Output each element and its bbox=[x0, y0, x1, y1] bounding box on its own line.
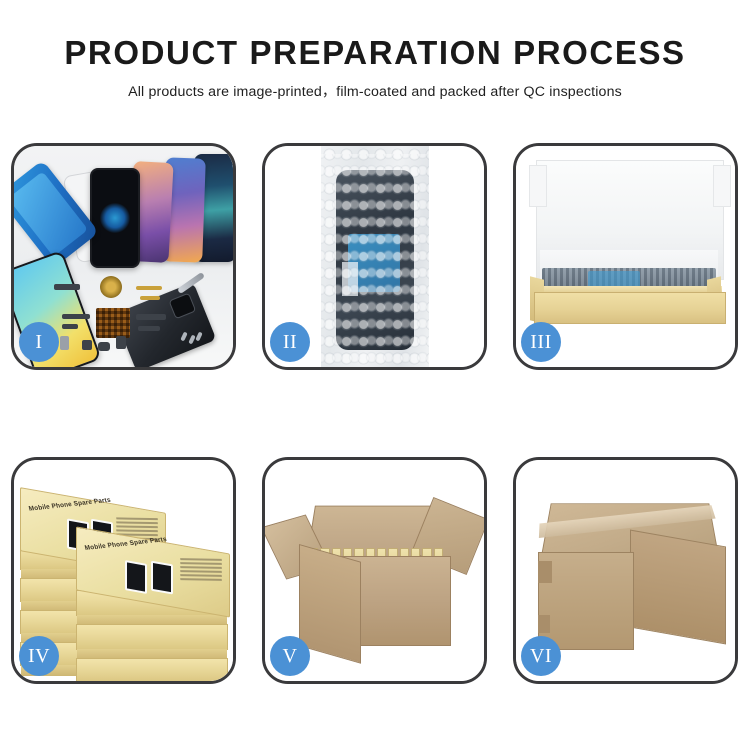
ribbon-part bbox=[136, 314, 166, 320]
box-phone-graphic bbox=[151, 561, 173, 595]
process-grid: I II bbox=[11, 143, 739, 684]
stacked-box bbox=[76, 658, 228, 681]
process-step-1[interactable]: I bbox=[11, 143, 236, 370]
step-badge-2: II bbox=[270, 322, 310, 362]
button-flex-part bbox=[62, 314, 90, 319]
page-subtitle: All products are image-printed，film-coat… bbox=[0, 81, 750, 101]
tweezers-tool bbox=[177, 272, 205, 294]
bracket-part bbox=[82, 340, 92, 350]
camera-part bbox=[60, 336, 69, 350]
spare-parts-cluster bbox=[54, 274, 204, 354]
box-phone-graphic bbox=[125, 560, 147, 594]
process-row-1: I II bbox=[11, 143, 739, 370]
carton-handle-nub bbox=[538, 615, 550, 633]
box-front-panel bbox=[534, 292, 726, 324]
page-header: PRODUCT PREPARATION PROCESS All products… bbox=[0, 36, 750, 101]
screws-group bbox=[182, 332, 204, 346]
process-step-3[interactable]: III bbox=[513, 143, 738, 370]
speaker-coil-part bbox=[100, 276, 122, 298]
step-badge-6: VI bbox=[521, 636, 561, 676]
carton-side bbox=[630, 530, 726, 645]
step-badge-4: IV bbox=[19, 636, 59, 676]
process-step-5[interactable]: V bbox=[262, 457, 487, 684]
vibrator-part bbox=[116, 336, 126, 349]
box-label-text: Mobile Phone Spare Parts bbox=[84, 536, 168, 552]
bubble-pattern-offset bbox=[321, 154, 429, 367]
process-step-6[interactable]: VI bbox=[513, 457, 738, 684]
chip-grid-part bbox=[96, 308, 130, 338]
step-badge-5: V bbox=[270, 636, 310, 676]
process-step-2[interactable]: II bbox=[262, 143, 487, 370]
flex-cable-part bbox=[140, 296, 160, 300]
process-step-4[interactable]: Mobile Phone Spare Parts Mobile Phone Sp… bbox=[11, 457, 236, 684]
carton-handle-nub bbox=[538, 561, 552, 583]
carton-front bbox=[538, 552, 634, 650]
button-flex-part bbox=[62, 324, 78, 329]
speaker-part bbox=[98, 342, 110, 351]
black-framed-phone bbox=[90, 168, 140, 268]
process-row-2: Mobile Phone Spare Parts Mobile Phone Sp… bbox=[11, 457, 739, 684]
step-badge-3: III bbox=[521, 322, 561, 362]
box-label-text: Mobile Phone Spare Parts bbox=[28, 497, 112, 513]
flex-cable-part bbox=[136, 286, 162, 290]
page-title: PRODUCT PREPARATION PROCESS bbox=[0, 36, 750, 71]
box-spec-lines bbox=[180, 555, 222, 587]
carton-front-left bbox=[299, 544, 361, 664]
stacked-box bbox=[76, 624, 228, 650]
product-preparation-page: PRODUCT PREPARATION PROCESS All products… bbox=[0, 0, 750, 750]
step-badge-1: I bbox=[19, 322, 59, 362]
connector-part bbox=[54, 284, 80, 290]
ribbon-part bbox=[138, 326, 160, 331]
